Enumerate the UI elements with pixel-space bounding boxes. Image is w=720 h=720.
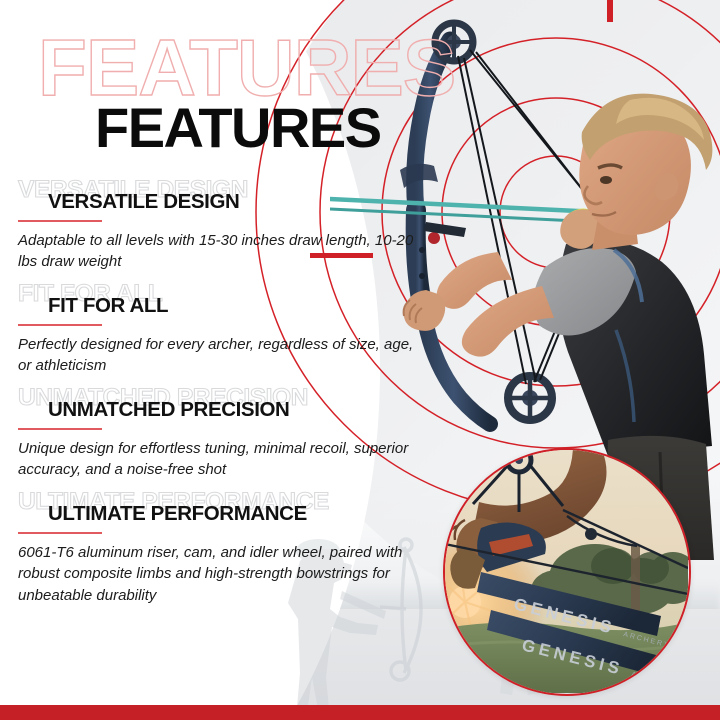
feature-body: Perfectly designed for every archer, reg… (18, 334, 418, 377)
feature-item-ultimate-performance: ULTIMATE PERFORMANCE ULTIMATE PERFORMANC… (0, 490, 420, 610)
bottom-accent-bar (0, 705, 720, 720)
page-title-group: FEATURES FEATURES (0, 28, 540, 143)
feature-title: ULTIMATE PERFORMANCE (48, 504, 307, 525)
feature-item-versatile-design: VERSATILE DESIGN VERSATILE DESIGN Adapta… (0, 178, 420, 282)
feature-item-unmatched-precision: UNMATCHED PRECISION UNMATCHED PRECISION … (0, 386, 420, 490)
inset-photo-bow-closeup: GENESIS ARCHERY GENESIS AR (443, 448, 691, 696)
feature-underline (18, 532, 102, 534)
feature-body: Adaptable to all levels with 15-30 inche… (18, 230, 418, 273)
feature-body: Unique design for effortless tuning, min… (18, 438, 418, 481)
infographic-canvas: GENESIS ARCHERY GENESIS AR FEATURES FEAT… (0, 0, 720, 720)
feature-list: VERSATILE DESIGN VERSATILE DESIGN Adapta… (0, 178, 420, 610)
feature-body: 6061-T6 aluminum riser, cam, and idler w… (18, 542, 418, 606)
feature-underline (18, 324, 102, 326)
feature-title: UNMATCHED PRECISION (48, 400, 289, 421)
feature-title: FIT FOR ALL (48, 296, 168, 317)
crosshair-tick-top (607, 0, 613, 22)
feature-title: VERSATILE DESIGN (48, 192, 239, 213)
feature-underline (18, 428, 102, 430)
feature-underline (18, 220, 102, 222)
page-title: FEATURES (95, 100, 381, 156)
feature-item-fit-for-all: FIT FOR ALL FIT FOR ALL Perfectly design… (0, 282, 420, 386)
